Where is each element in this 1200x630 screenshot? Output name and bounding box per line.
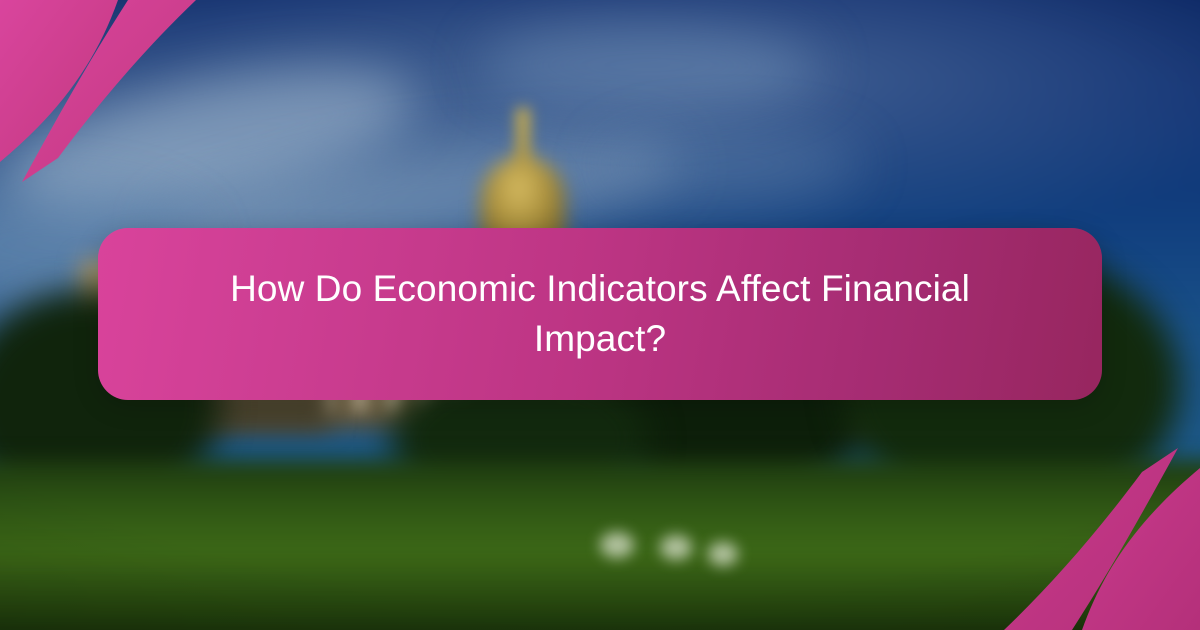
social-share-card: How Do Economic Indicators Affect Financ… <box>0 0 1200 630</box>
page-title: How Do Economic Indicators Affect Financ… <box>168 264 1031 363</box>
headline-card: How Do Economic Indicators Affect Financ… <box>98 228 1102 400</box>
